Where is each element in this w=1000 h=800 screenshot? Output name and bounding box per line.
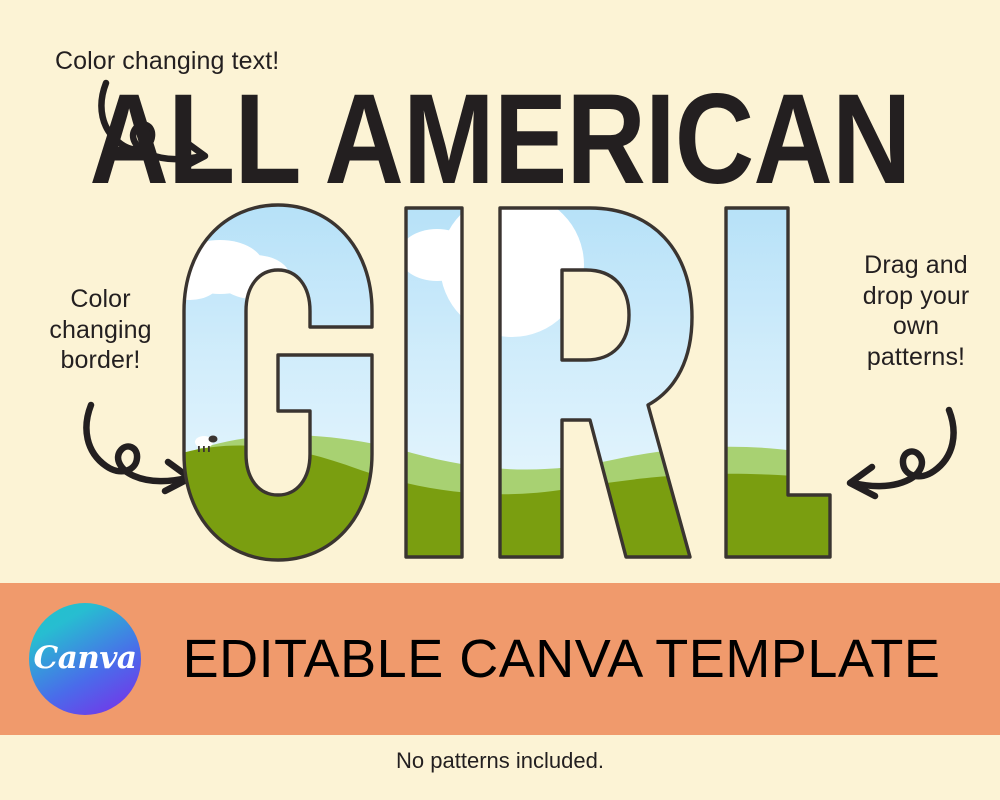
banner-label: EDITABLE CANVA TEMPLATE bbox=[141, 628, 1000, 690]
annotation-right-line-3: own bbox=[840, 311, 992, 342]
annotation-right-line-4: patterns! bbox=[840, 342, 992, 373]
editable-canva-template-banner: Canva EDITABLE CANVA TEMPLATE bbox=[0, 583, 1000, 735]
canva-logo: Canva bbox=[29, 603, 141, 715]
annotation-right-line-1: Drag and bbox=[840, 250, 992, 281]
annotation-left-line-2: changing bbox=[18, 315, 183, 346]
poster-canvas: Color changing text! Color changing bord… bbox=[0, 0, 1000, 800]
curved-loop-arrow-down-left-icon bbox=[830, 395, 960, 525]
pattern-word-girl bbox=[182, 205, 832, 560]
annotation-left-line-3: border! bbox=[18, 345, 183, 376]
annotation-left-line-1: Color bbox=[18, 284, 183, 315]
canva-wordmark: Canva bbox=[34, 643, 137, 674]
girl-pattern-fill bbox=[160, 193, 832, 560]
annotation-right-line-2: drop your bbox=[840, 281, 992, 312]
annotation-color-changing-border: Color changing border! bbox=[18, 284, 183, 376]
annotation-drag-drop-patterns: Drag and drop your own patterns! bbox=[840, 250, 992, 372]
footer-caption: No patterns included. bbox=[0, 748, 1000, 774]
headline-all-american: ALL AMERICAN bbox=[70, 84, 930, 196]
